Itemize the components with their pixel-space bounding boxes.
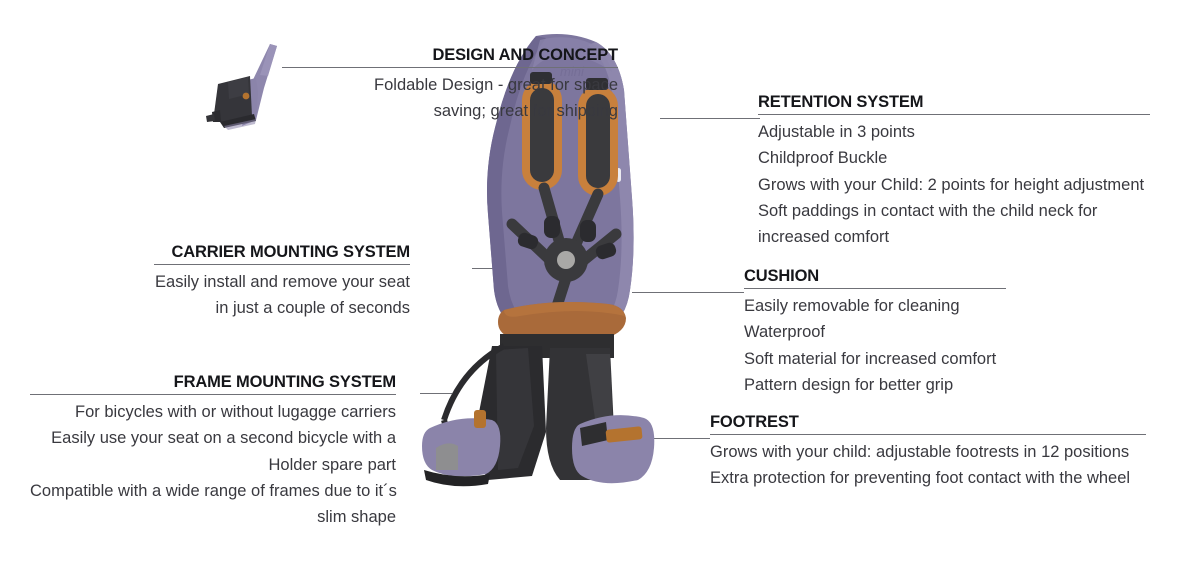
- footrest-right: [572, 415, 654, 483]
- callout-line: Soft paddings in contact with the child …: [758, 198, 1150, 224]
- feature-diagram: mini: [0, 0, 1200, 563]
- callout-rule: [744, 288, 1006, 289]
- callout-rule: [154, 264, 410, 265]
- callout-title: FOOTREST: [710, 413, 1146, 431]
- callout-line: in just a couple of seconds: [154, 295, 410, 321]
- callout-title: CUSHION: [744, 267, 1006, 285]
- callout-design-and-concept: DESIGN AND CONCEPT Foldable Design - gre…: [282, 46, 618, 125]
- callout-line: Pattern design for better grip: [744, 372, 1006, 398]
- callout-line: Extra protection for preventing foot con…: [710, 465, 1146, 491]
- callout-line: increased comfort: [758, 224, 1150, 250]
- callout-line: Compatible with a wide range of frames d…: [30, 478, 396, 504]
- callout-line: Easily use your seat on a second bicycle…: [30, 425, 396, 451]
- callout-rule: [30, 394, 396, 395]
- callout-title: FRAME MOUNTING SYSTEM: [30, 373, 396, 391]
- callout-frame-mounting-system: FRAME MOUNTING SYSTEM For bicycles with …: [30, 373, 396, 531]
- callout-rule: [758, 114, 1150, 115]
- harness-buckle: [544, 238, 588, 282]
- callout-rule: [282, 67, 618, 68]
- callout-carrier-mounting-system: CARRIER MOUNTING SYSTEM Easily install a…: [154, 243, 410, 322]
- callout-line: Easily install and remove your seat: [154, 269, 410, 295]
- callout-title: DESIGN AND CONCEPT: [282, 46, 618, 64]
- callout-line: Foldable Design - great for space: [282, 72, 618, 98]
- callout-line: For bicycles with or without lugagge car…: [30, 399, 396, 425]
- callout-line: slim shape: [30, 504, 396, 530]
- callout-line: Soft material for increased comfort: [744, 346, 1006, 372]
- callout-line: Grows with your Child: 2 points for heig…: [758, 172, 1150, 198]
- footrest-left: [422, 410, 500, 486]
- callout-line: Waterproof: [744, 319, 1006, 345]
- callout-line: Childproof Buckle: [758, 145, 1150, 171]
- callout-line: Holder spare part: [30, 452, 396, 478]
- callout-line: Grows with your child: adjustable footre…: [710, 439, 1146, 465]
- callout-line: saving; great for shipping: [282, 98, 618, 124]
- callout-title: RETENTION SYSTEM: [758, 93, 1150, 111]
- callout-line: Adjustable in 3 points: [758, 119, 1150, 145]
- callout-footrest: FOOTREST Grows with your child: adjustab…: [710, 413, 1146, 492]
- callout-cushion: CUSHION Easily removable for cleaning Wa…: [744, 267, 1006, 398]
- callout-line: Easily removable for cleaning: [744, 293, 1006, 319]
- callout-retention-system: RETENTION SYSTEM Adjustable in 3 points …: [758, 93, 1150, 251]
- callout-rule: [710, 434, 1146, 435]
- callout-title: CARRIER MOUNTING SYSTEM: [154, 243, 410, 261]
